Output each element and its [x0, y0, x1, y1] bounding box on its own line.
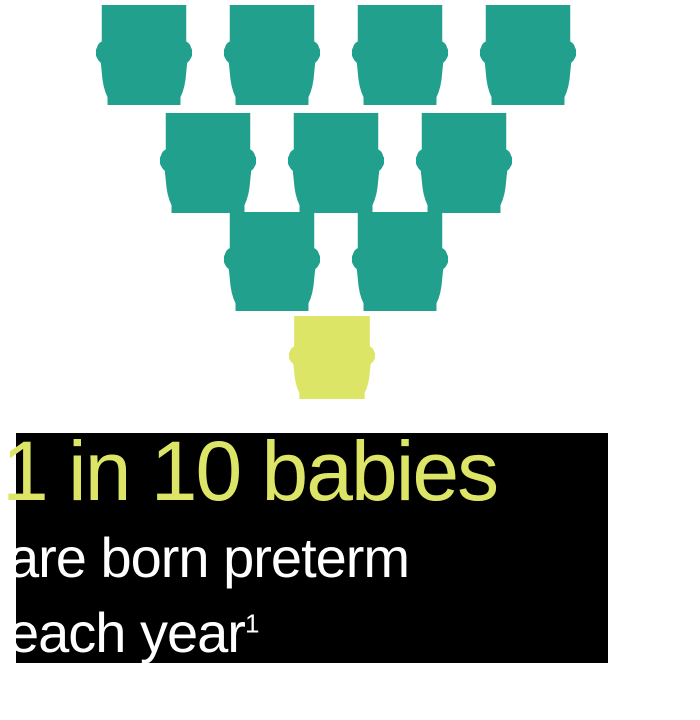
baby-icon: [288, 113, 384, 213]
baby-icon: [96, 5, 192, 105]
headline-ratio-text: 1 in 10 babies: [2, 421, 497, 521]
caption-block: 1 in 10 babies are born preterm each yea…: [16, 433, 608, 663]
caption-line-each-year: each year1: [8, 600, 258, 666]
baby-icon: [224, 5, 320, 105]
baby-icon: [416, 113, 512, 213]
baby-icon: [224, 212, 320, 311]
baby-pictogram: [0, 0, 700, 410]
baby-icon: [160, 113, 256, 213]
footnote-reference-marker: 1: [245, 608, 258, 638]
caption-each-year-label: each year: [8, 601, 245, 664]
baby-icon: [480, 5, 576, 105]
baby-icon: [352, 5, 448, 105]
caption-line-born-preterm: are born preterm: [8, 525, 409, 591]
baby-icon-highlighted: [289, 316, 375, 399]
infographic-canvas: 1 in 10 babies are born preterm each yea…: [0, 0, 700, 720]
baby-icon: [352, 212, 448, 311]
